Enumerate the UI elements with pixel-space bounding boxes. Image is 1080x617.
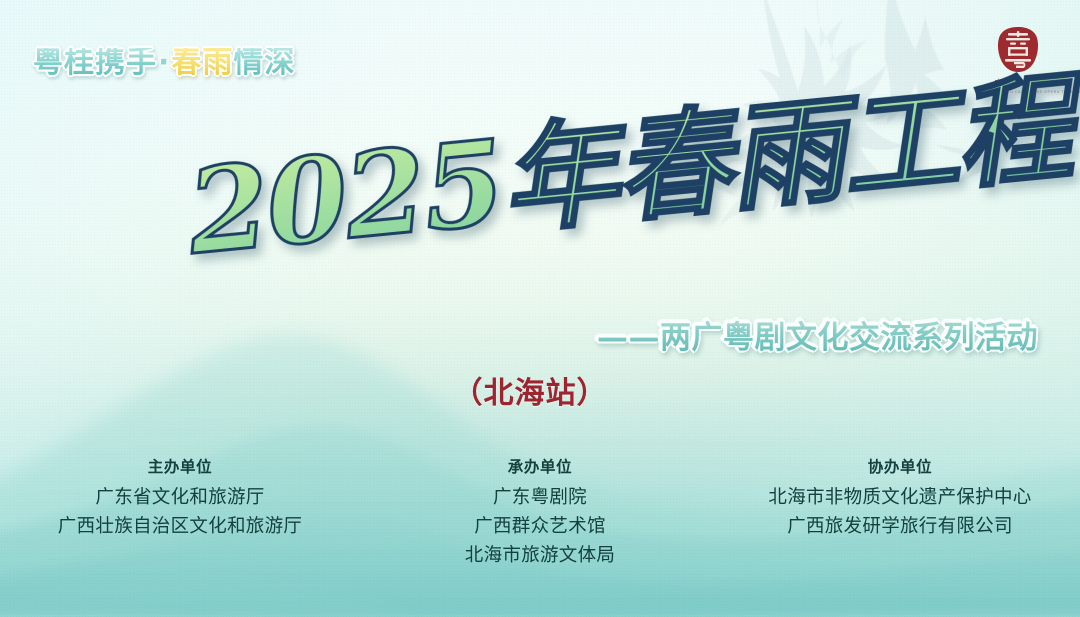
credit-role-label: 协办单位 xyxy=(726,455,1074,477)
credit-column-coorganizer: 协办单位 北海市非物质文化遗产保护中心 广西旅发研学旅行有限公司 xyxy=(720,455,1080,541)
credit-column-organizer: 主办单位 广东省文化和旅游厅 广西壮族自治区文化和旅游厅 xyxy=(0,455,360,541)
poster-canvas: 粤桂携手·春雨情深 xyxy=(0,0,1080,617)
credit-role-label: 承办单位 xyxy=(366,455,714,477)
slogan-part-teal-2: 情深 xyxy=(233,48,295,78)
credit-column-host: 承办单位 广东粤剧院 广西群众艺术馆 北海市旅游文体局 xyxy=(360,455,720,570)
slogan-separator-dot: · xyxy=(157,48,171,78)
subtitle: ——两广粤剧文化交流系列活动 xyxy=(597,312,1038,357)
credit-org-name: 广西壮族自治区文化和旅游厅 xyxy=(6,512,354,541)
credit-org-name: 北海市非物质文化遗产保护中心 xyxy=(726,483,1074,512)
credit-org-name: 广东省文化和旅游厅 xyxy=(6,483,354,512)
seal-stamp-icon xyxy=(984,26,1052,74)
organization-logo: 广东粤剧院 GUANGDONG CANTONESE OPERA THEATRE xyxy=(984,26,1052,94)
credit-role-label: 主办单位 xyxy=(6,455,354,477)
logo-name: 广东粤剧院 xyxy=(984,77,1052,89)
credit-org-name: 北海市旅游文体局 xyxy=(366,541,714,570)
logo-subtitle: GUANGDONG CANTONESE OPERA THEATRE xyxy=(984,90,1052,94)
slogan: 粤桂携手·春雨情深 xyxy=(33,48,295,78)
credit-org-name: 广东粤剧院 xyxy=(366,483,714,512)
slogan-part-teal-1: 粤桂携手 xyxy=(33,48,157,78)
credit-org-name: 广西旅发研学旅行有限公司 xyxy=(726,512,1074,541)
credits-section: 主办单位 广东省文化和旅游厅 广西壮族自治区文化和旅游厅 承办单位 广东粤剧院 … xyxy=(0,455,1080,570)
location-text: （北海站） xyxy=(453,368,608,412)
location-line: （北海站） xyxy=(0,368,1080,412)
credit-org-name: 广西群众艺术馆 xyxy=(366,512,714,541)
slogan-part-gold: 春雨 xyxy=(171,48,233,78)
